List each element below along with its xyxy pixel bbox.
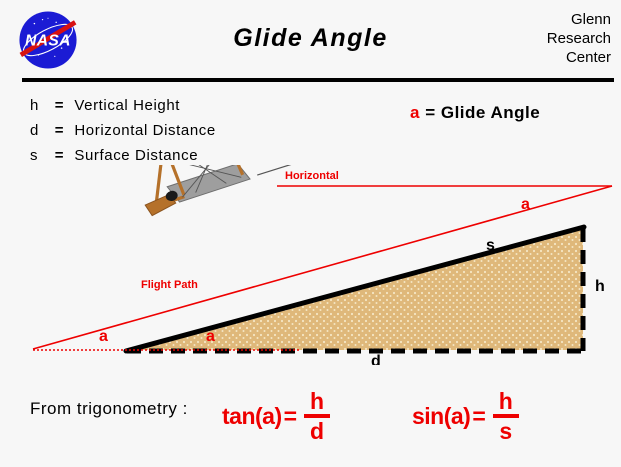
label-vertical-height: h <box>595 278 605 295</box>
header-divider <box>22 78 614 82</box>
label-surface-distance: s <box>486 237 495 254</box>
legend-equals-h: = <box>48 93 70 118</box>
legend-text-d: Horizontal Distance <box>74 122 215 139</box>
legend-symbol-h: h <box>30 93 44 118</box>
glide-angle-symbol: a <box>410 103 420 122</box>
tangent-formula: tan(a) = h d <box>222 385 330 447</box>
tangent-denominator: d <box>305 420 329 442</box>
tangent-formula-lhs: tan(a) <box>222 403 282 430</box>
sine-formula-equals: = <box>472 403 485 430</box>
sine-formula-lhs: sin(a) <box>412 403 470 430</box>
center-name-line-3: Center <box>471 48 611 67</box>
label-angle-top: a <box>521 196 530 213</box>
legend-equals-d: = <box>48 118 70 143</box>
tangent-fraction: h d <box>304 390 330 442</box>
legend-text-s: Surface Distance <box>74 147 198 164</box>
label-angle-left: a <box>99 328 108 345</box>
sine-numerator: h <box>494 390 518 412</box>
sine-formula: sin(a) = h s <box>412 385 519 447</box>
legend-symbol-d: d <box>30 118 44 143</box>
formula-row: From trigonometry : tan(a) = h d sin(a) … <box>0 385 621 455</box>
legend-text-h: Vertical Height <box>74 97 180 114</box>
from-trigonometry-label: From trigonometry : <box>30 399 188 419</box>
sine-fraction: h s <box>493 390 519 442</box>
center-name-line-1: Glenn <box>471 10 611 29</box>
tangent-formula-equals: = <box>284 403 297 430</box>
label-flight-path: Flight Path <box>141 279 198 291</box>
label-horizontal-distance: d <box>371 353 381 365</box>
glide-angle-key: a = Glide Angle <box>410 103 540 123</box>
label-angle-slope: a <box>206 328 215 345</box>
glide-angle-definition: = Glide Angle <box>425 103 540 122</box>
sine-denominator: s <box>494 420 517 442</box>
label-horizontal: Horizontal <box>285 170 339 182</box>
legend-row-d: d = Horizontal Distance <box>30 118 216 143</box>
legend-row-h: h = Vertical Height <box>30 93 216 118</box>
symbol-legend: h = Vertical Height d = Horizontal Dista… <box>30 93 216 168</box>
research-center-name: Glenn Research Center <box>471 10 611 67</box>
tangent-numerator: h <box>305 390 329 412</box>
glide-angle-diagram: Horizontal Flight Path a a a s h d <box>0 165 621 365</box>
center-name-line-2: Research <box>471 29 611 48</box>
slide-canvas: NASA Glide Angle Glenn Research Center h… <box>0 0 621 467</box>
